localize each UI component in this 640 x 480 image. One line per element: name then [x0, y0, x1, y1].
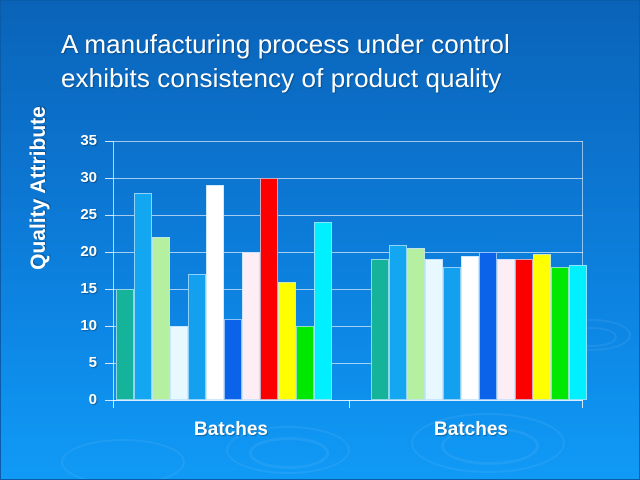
y-axis-tick-label: 5 — [53, 354, 97, 371]
bar-group-1-item-6 — [206, 185, 224, 400]
x-axis-tick — [349, 400, 350, 408]
bar-group-1-item-10 — [278, 282, 296, 400]
bar-group-1-item-3 — [152, 237, 170, 400]
plot-area — [113, 141, 583, 400]
bar-group-1-item-9 — [260, 178, 278, 400]
bar-group-1-item-1 — [116, 289, 134, 400]
y-axis-tick-label: 15 — [53, 280, 97, 297]
gridline — [113, 252, 583, 253]
gridline — [113, 141, 583, 142]
bar-group-2-item-1 — [371, 259, 389, 400]
bar-group-2-item-8 — [497, 259, 515, 400]
bar-group-1-item-5 — [188, 274, 206, 400]
y-axis-tick — [105, 363, 113, 364]
bar-group-2-item-3 — [407, 248, 425, 400]
ripple-watermark-icon — [61, 439, 185, 480]
bar-group-2-item-6 — [461, 256, 479, 400]
y-axis-tick-label: 0 — [53, 391, 97, 408]
gridline — [113, 215, 583, 216]
bar-group-2-item-7 — [479, 252, 497, 400]
x-axis-tick — [582, 400, 583, 408]
ripple-watermark-icon — [249, 437, 329, 469]
bar-group-1-item-11 — [296, 326, 314, 400]
y-axis-tick — [105, 400, 113, 401]
y-axis-tick — [105, 178, 113, 179]
bar-group-2-item-12 — [569, 265, 587, 400]
y-axis-tick-label: 10 — [53, 317, 97, 334]
x-axis-label-group-1: Batches — [141, 419, 321, 441]
x-axis-label-group-2: Batches — [381, 419, 561, 441]
bar-group-1-item-8 — [242, 252, 260, 400]
bar-group-2-item-10 — [533, 254, 551, 400]
bar-group-2-item-9 — [515, 259, 533, 400]
y-axis-tick-label: 20 — [53, 243, 97, 260]
y-axis-tick-label: 30 — [53, 169, 97, 186]
y-axis-tick — [105, 326, 113, 327]
bar-group-1-item-4 — [170, 326, 188, 400]
y-axis-tick-label: 35 — [53, 132, 97, 149]
gridline — [113, 178, 583, 179]
y-axis-tick — [105, 252, 113, 253]
y-axis-tick — [105, 289, 113, 290]
bar-group-2-item-11 — [551, 267, 569, 400]
bar-group-2-item-4 — [425, 259, 443, 400]
slide-title: A manufacturing process under control ex… — [61, 27, 601, 95]
bar-group-2-item-5 — [443, 267, 461, 400]
slide-canvas: A manufacturing process under control ex… — [0, 0, 640, 480]
y-axis-title: Quality Attribute — [27, 88, 51, 288]
y-axis-tick-label: 25 — [53, 206, 97, 223]
y-axis-tick — [105, 215, 113, 216]
x-axis-tick — [113, 400, 114, 408]
bar-group-2-item-2 — [389, 245, 407, 400]
y-axis-tick — [105, 141, 113, 142]
bar-group-1-item-12 — [314, 222, 332, 400]
bar-group-1-item-7 — [224, 319, 242, 400]
bar-group-1-item-2 — [134, 193, 152, 400]
gridline — [113, 400, 583, 401]
